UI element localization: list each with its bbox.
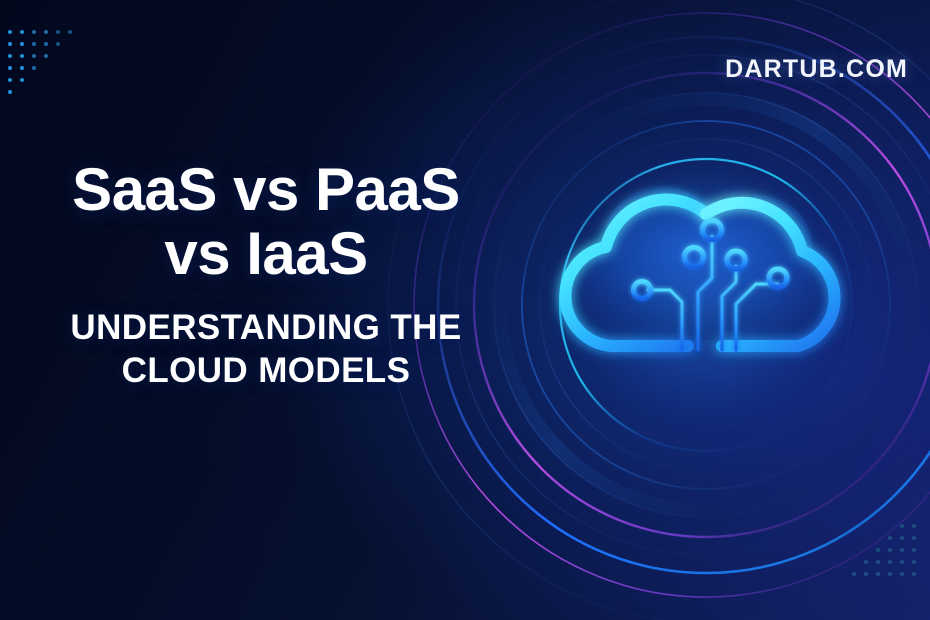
decor-dot (864, 560, 868, 564)
decor-dot (56, 42, 60, 46)
decor-dot (888, 572, 892, 576)
decor-dot (44, 30, 48, 34)
decor-dot (20, 54, 24, 58)
decor-dot (912, 524, 916, 528)
dot-grid-top-left (8, 30, 80, 102)
dot-grid-bottom-right (844, 524, 916, 584)
decor-dot (900, 560, 904, 564)
decor-dot (888, 548, 892, 552)
headline-line-1: SaaS vs PaaS (72, 156, 460, 223)
page-title: SaaS vs PaaS vs IaaS (6, 158, 526, 285)
decor-dot (864, 572, 868, 576)
poster-canvas: DARTUB.COM SaaS vs PaaS vs IaaS UNDERSTA… (0, 0, 930, 620)
decor-dot (56, 30, 60, 34)
decor-dot (912, 536, 916, 540)
decor-dot (32, 42, 36, 46)
brand-logo-text: DARTUB.COM (725, 55, 908, 84)
headline-line-2: vs IaaS (6, 222, 526, 286)
decor-dot (8, 78, 12, 82)
cloud-graphic (540, 150, 870, 450)
decor-dot (8, 54, 12, 58)
decor-dot (32, 66, 36, 70)
decor-dot (8, 90, 12, 94)
decor-dot (876, 572, 880, 576)
subhead-line-1: UNDERSTANDING THE (70, 308, 461, 347)
decor-dot (68, 30, 72, 34)
cloud-circuit-icon (540, 150, 870, 450)
decor-dot (876, 560, 880, 564)
decor-dot (912, 548, 916, 552)
decor-dot (900, 524, 904, 528)
decor-dot (852, 572, 856, 576)
decor-dot (888, 560, 892, 564)
decor-dot (20, 78, 24, 82)
decor-dot (20, 30, 24, 34)
page-subtitle: UNDERSTANDING THE CLOUD MODELS (6, 307, 526, 392)
decor-dot (32, 54, 36, 58)
decor-dot (876, 548, 880, 552)
decor-dot (44, 42, 48, 46)
decor-dot (8, 30, 12, 34)
decor-dot (912, 572, 916, 576)
decor-dot (900, 572, 904, 576)
title-block: SaaS vs PaaS vs IaaS UNDERSTANDING THE C… (0, 158, 526, 393)
decor-dot (20, 66, 24, 70)
decor-dot (8, 42, 12, 46)
decor-dot (8, 66, 12, 70)
decor-dot (20, 42, 24, 46)
subhead-line-2: CLOUD MODELS (6, 350, 526, 393)
decor-dot (900, 548, 904, 552)
decor-dot (900, 536, 904, 540)
decor-dot (888, 536, 892, 540)
decor-dot (912, 560, 916, 564)
decor-dot (44, 54, 48, 58)
decor-dot (32, 30, 36, 34)
